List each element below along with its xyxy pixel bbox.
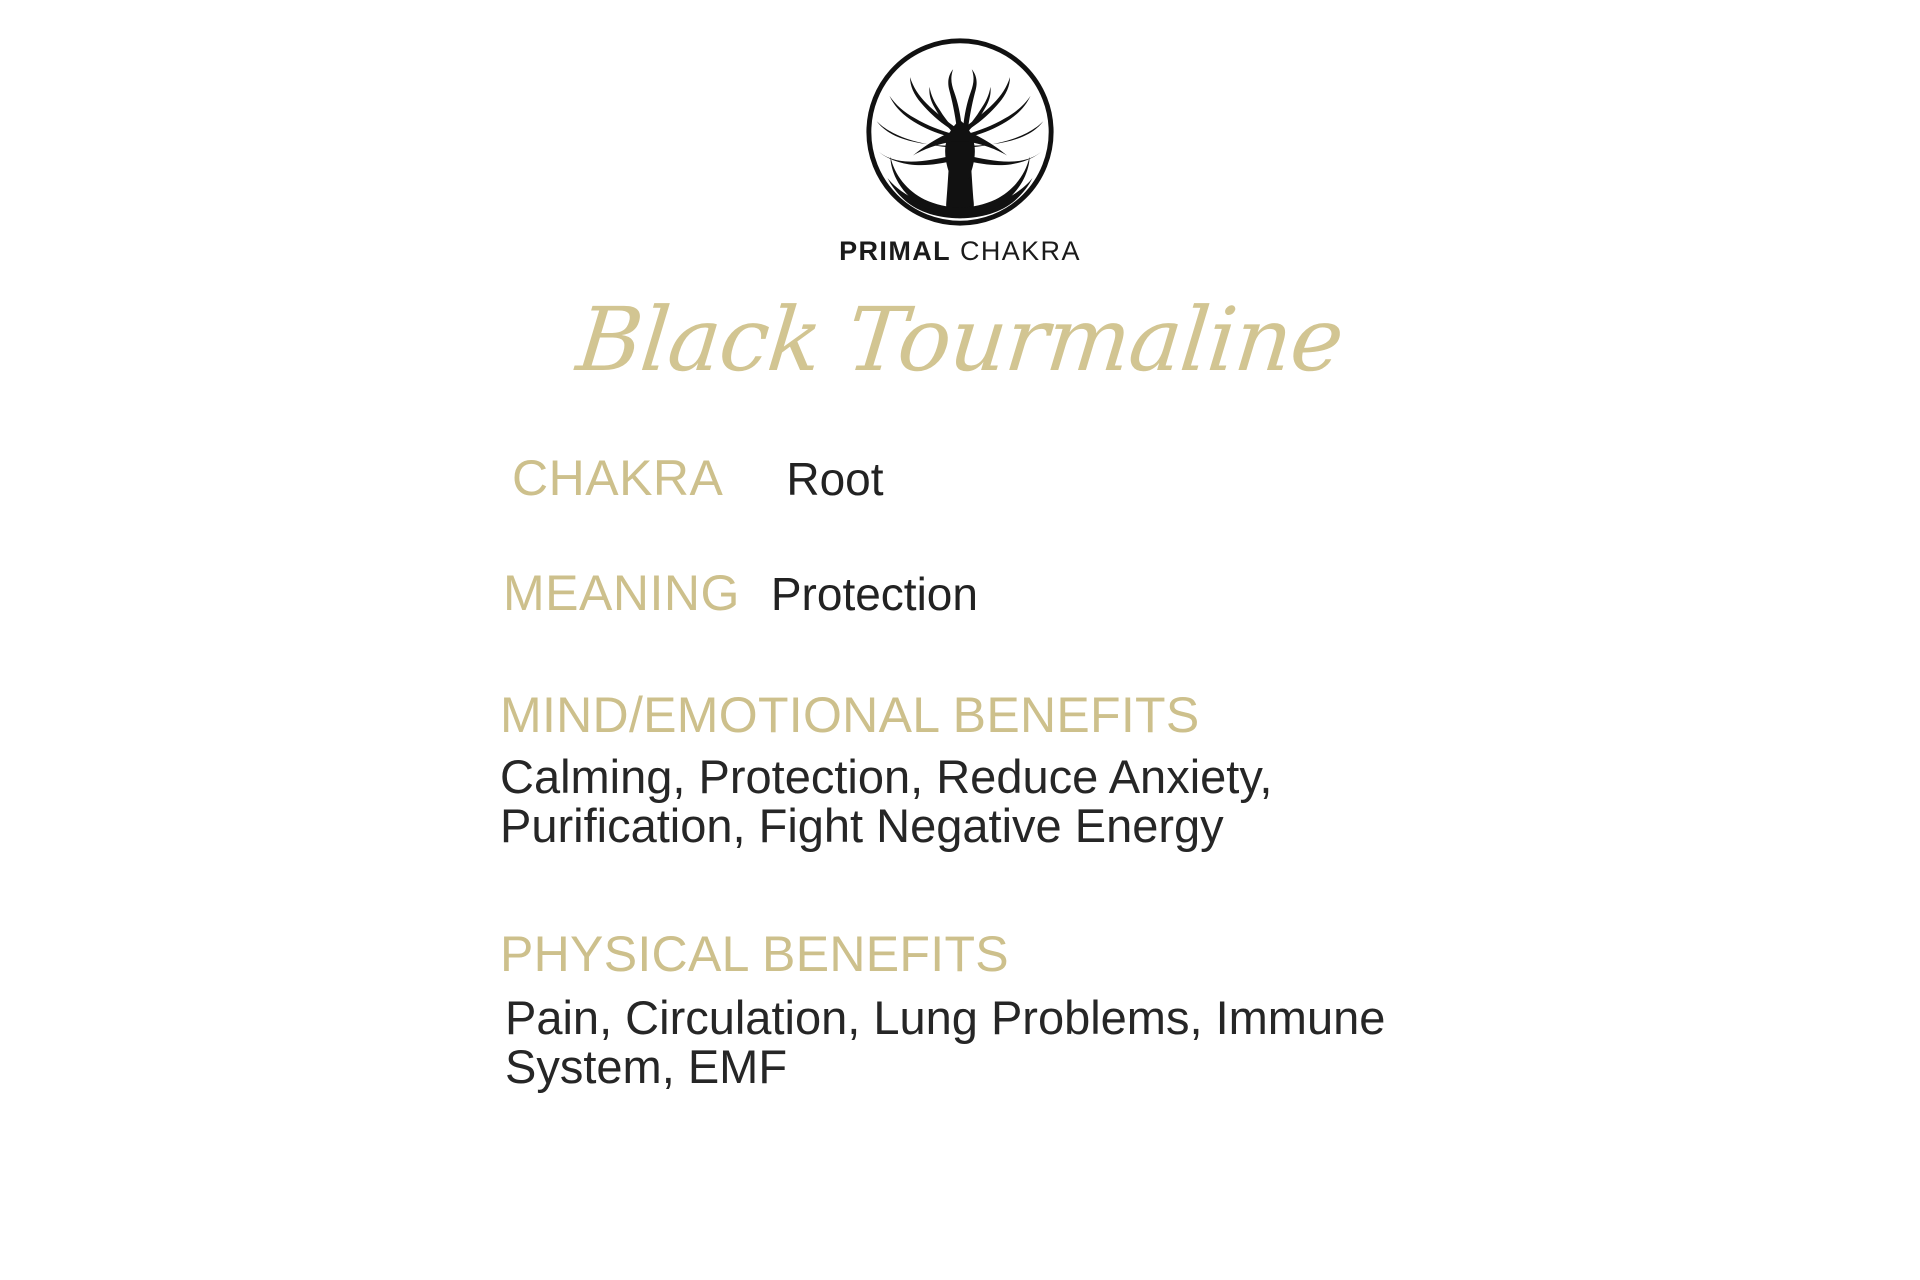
product-title: Black Tourmaline: [0, 296, 1920, 384]
section-heading-physical: PHYSICAL BENEFITS: [500, 928, 1800, 981]
product-info-card: PRIMAL CHAKRA Black Tourmaline CHAKRA Ro…: [0, 0, 1920, 1280]
attribute-label-chakra: CHAKRA: [512, 452, 723, 505]
brand-name-primary: PRIMAL: [839, 236, 951, 266]
body-line: System, EMF: [505, 1042, 1505, 1091]
brand-name-secondary: CHAKRA: [960, 236, 1081, 266]
body-line: Calming, Protection, Reduce Anxiety,: [500, 752, 1500, 801]
section-physical-benefits: PHYSICAL BENEFITS Pain, Circulation, Lun…: [500, 928, 1800, 1091]
section-body-physical: Pain, Circulation, Lung Problems, Immune…: [505, 993, 1505, 1092]
attribute-label-meaning: MEANING: [503, 567, 740, 620]
brand-wordmark: PRIMAL CHAKRA: [839, 238, 1081, 265]
brand-header: PRIMAL CHAKRA: [0, 34, 1920, 265]
attribute-row-meaning: MEANING Protection: [503, 567, 1800, 620]
section-mind-emotional-benefits: MIND/EMOTIONAL BENEFITS Calming, Protect…: [500, 689, 1800, 850]
body-line: Purification, Fight Negative Energy: [500, 801, 1500, 850]
section-body-mind-emotional: Calming, Protection, Reduce Anxiety, Pur…: [500, 752, 1500, 851]
tree-of-life-icon: [862, 34, 1058, 230]
product-details: CHAKRA Root MEANING Protection MIND/EMOT…: [500, 452, 1800, 1091]
section-heading-mind-emotional: MIND/EMOTIONAL BENEFITS: [500, 689, 1800, 742]
attribute-value-meaning: Protection: [771, 570, 978, 618]
body-line: Pain, Circulation, Lung Problems, Immune: [505, 993, 1505, 1042]
attribute-value-chakra: Root: [786, 455, 883, 503]
attribute-row-chakra: CHAKRA Root: [512, 452, 1800, 505]
